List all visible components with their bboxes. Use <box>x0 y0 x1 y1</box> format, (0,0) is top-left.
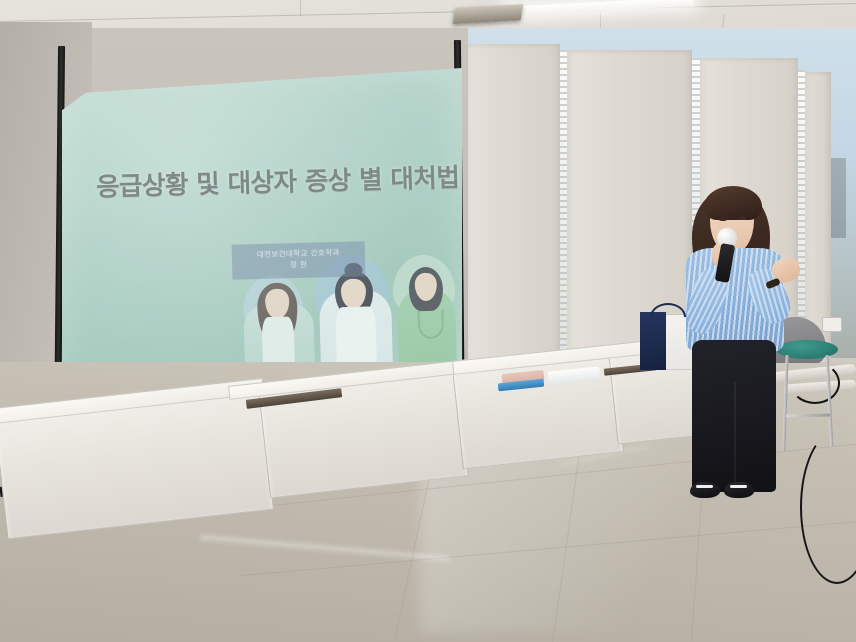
presenter-pants-crease <box>734 382 736 490</box>
slide-subtitle-box: 대전보건대학교 간호학과 정 현 <box>232 241 366 279</box>
presenter-eye-right <box>738 217 746 220</box>
slide-title: 응급상황 및 대상자 증상 별 대처법 <box>96 157 447 203</box>
slide-subtitle-presenter-name: 정 현 <box>236 258 361 273</box>
presenter <box>660 182 830 512</box>
window-gap-1 <box>560 50 567 382</box>
classroom-presentation-photo: 응급상황 및 대상자 증상 별 대처법 대전보건대학교 간호학과 정 현 대전보… <box>0 0 856 642</box>
presenter-shoe-left-strap <box>696 485 713 488</box>
presenter-hair-front <box>704 186 762 220</box>
presenter-shoe-right-strap <box>730 485 747 488</box>
floor-light-reflection <box>200 535 450 563</box>
roller-blind-1[interactable] <box>468 44 560 398</box>
presenter-eye-left <box>719 218 727 221</box>
